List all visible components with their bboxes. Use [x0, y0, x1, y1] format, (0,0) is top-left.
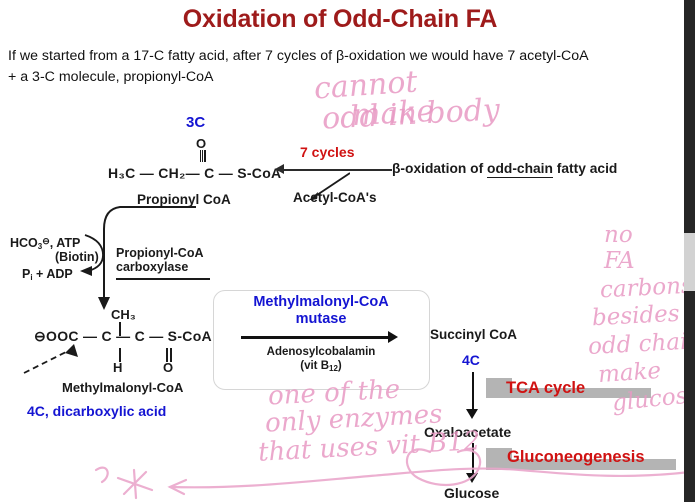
ink-strokes-overlay — [0, 0, 695, 502]
vertical-scrollbar-thumb[interactable] — [684, 233, 695, 291]
slide-canvas: Oxidation of Odd-Chain FA If we started … — [0, 0, 695, 502]
